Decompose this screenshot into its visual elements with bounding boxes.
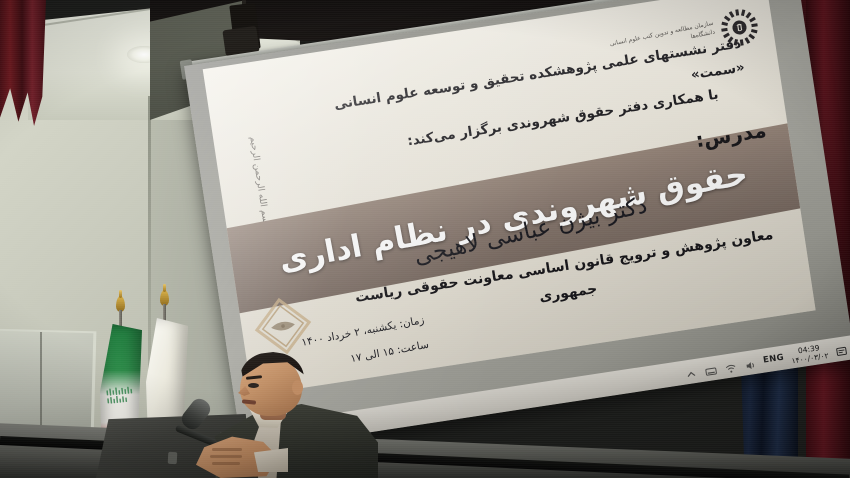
- seated-male-speaker: [196, 352, 386, 478]
- speaker-eye: [248, 383, 259, 388]
- speaker-volume-icon[interactable]: [743, 356, 758, 370]
- wall-whiteboard: [0, 329, 96, 440]
- show-hidden-icons-chevron[interactable]: [683, 365, 698, 379]
- wifi-icon[interactable]: [723, 359, 738, 373]
- presentation-slide: سازمان مطالعه و تدوین کتب علوم انسانی دا…: [203, 0, 816, 396]
- whiteboard-hanging-cord: [40, 332, 42, 428]
- speaker-finger: [212, 448, 242, 451]
- speaker-ear: [292, 380, 303, 395]
- seminar-photograph: سازمان مطالعه و تدوین کتب علوم انسانی دا…: [0, 0, 850, 478]
- iran-flag-emblem-icon: [105, 384, 137, 407]
- taskbar-clock[interactable]: 04:39 ۱۴۰۰/۰۳/۰۲: [790, 342, 830, 366]
- action-center-icon[interactable]: [834, 342, 849, 356]
- taskbar-language-indicator[interactable]: ENG: [762, 353, 784, 366]
- keyboard-icon[interactable]: [703, 362, 718, 376]
- speaker-finger: [212, 462, 240, 465]
- laptop-lid-logo-icon: [168, 452, 178, 464]
- poster-side-script: بسم الله الرحمن الرحیم: [220, 136, 273, 231]
- speaker-finger: [210, 455, 242, 458]
